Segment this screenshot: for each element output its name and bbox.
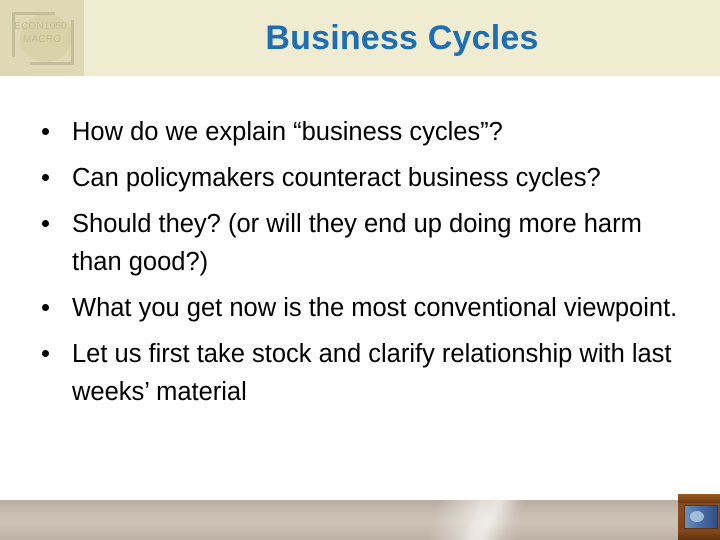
bullet-item: Should they? (or will they end up doing …	[36, 205, 696, 281]
bullet-text: Should they? (or will they end up doing …	[72, 210, 642, 276]
bullet-item: Can policymakers counteract business cyc…	[36, 159, 696, 197]
slide-canvas: ECON1050: MACRO Business Cycles How do w…	[0, 0, 720, 540]
photo-shelf-bottom	[678, 530, 720, 540]
bullet-list: How do we explain “business cycles”? Can…	[36, 113, 696, 419]
course-logo-line2: MACRO	[0, 33, 84, 46]
photo-shelf-top	[678, 494, 720, 503]
bullet-item: What you get now is the most conventiona…	[36, 289, 696, 327]
bullet-item: Let us first take stock and clarify rela…	[36, 335, 696, 411]
course-logo-line1: ECON1050:	[14, 21, 70, 32]
photo-television-screen	[684, 505, 718, 529]
course-logo-text: ECON1050: MACRO	[0, 20, 84, 46]
bullet-dot-icon	[42, 220, 49, 227]
footer-band	[0, 500, 720, 540]
bullet-text: Can policymakers counteract business cyc…	[72, 164, 601, 192]
bullet-text: How do we explain “business cycles”?	[72, 118, 503, 146]
bullet-dot-icon	[42, 350, 49, 357]
corner-photo-television	[678, 494, 720, 540]
slide-title: Business Cycles	[84, 17, 720, 59]
photo-screen-glow	[690, 511, 704, 522]
course-logo: ECON1050: MACRO	[0, 0, 84, 76]
bullet-dot-icon	[42, 174, 49, 181]
footer-highlight	[430, 500, 550, 540]
bullet-dot-icon	[42, 304, 49, 311]
header-band: ECON1050: MACRO Business Cycles	[0, 0, 720, 76]
bullet-text: Let us first take stock and clarify rela…	[72, 340, 672, 406]
bullet-item: How do we explain “business cycles”?	[36, 113, 696, 151]
bullet-dot-icon	[42, 128, 49, 135]
bullet-text: What you get now is the most conventiona…	[72, 294, 677, 322]
